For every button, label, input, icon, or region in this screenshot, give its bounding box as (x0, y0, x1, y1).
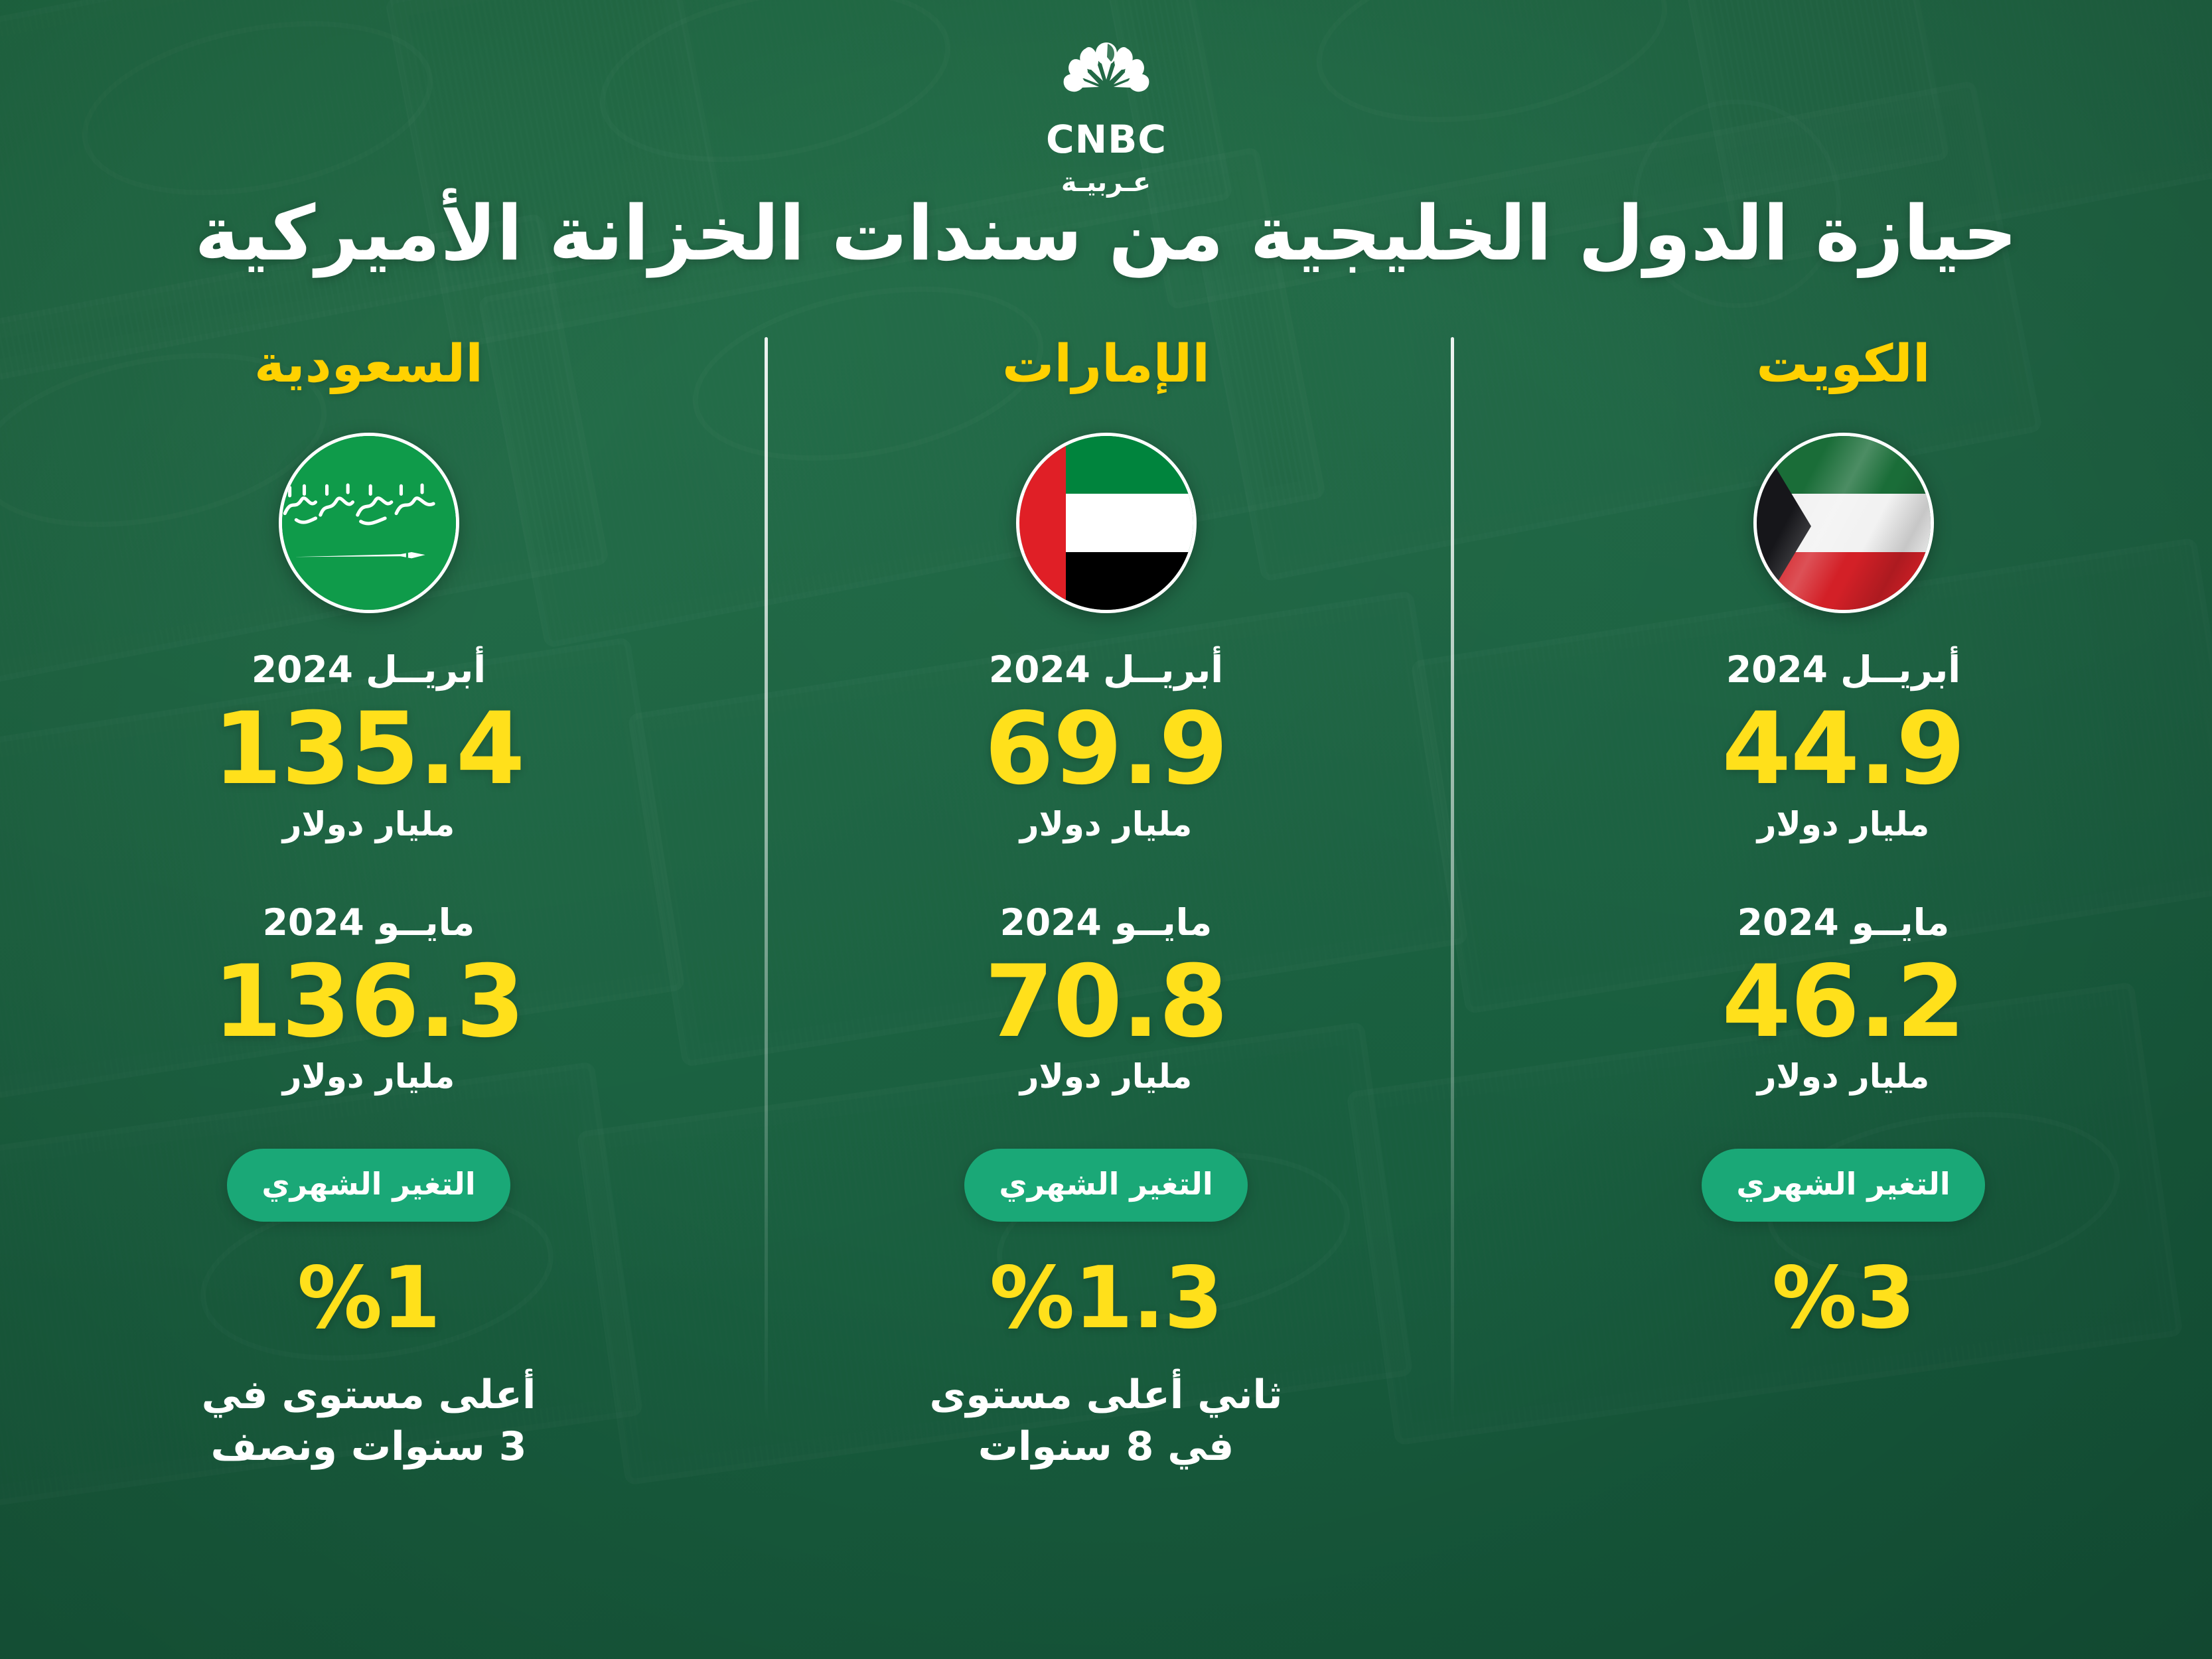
period-unit: مليار دولار (737, 808, 1475, 841)
kuwait-flag-icon (1753, 433, 1934, 613)
column-note: ثاني أعلى مستوىفي 8 سنوات (929, 1369, 1282, 1473)
period-value: 69.9 (737, 697, 1475, 802)
shahada-script-icon (280, 481, 441, 526)
country-column-uae: الإمارات أبريــل 2024 69.9 مليار دولار م… (737, 319, 1475, 1619)
period-block-april-kuwait: أبريــل 2024 44.9 مليار دولار (1475, 652, 2212, 841)
period-label: أبريــل 2024 (0, 652, 737, 688)
period-unit: مليار دولار (1475, 808, 2212, 841)
period-value: 70.8 (737, 950, 1475, 1055)
period-label: مايــو 2024 (1475, 904, 2212, 941)
period-value: 135.4 (0, 697, 737, 802)
page-title: حيازة الدول الخليجية من سندات الخزانة ال… (0, 190, 2212, 277)
period-block-may-saudi: مايــو 2024 136.3 مليار دولار (0, 904, 737, 1094)
monthly-change-badge: التغير الشهري (1702, 1149, 1984, 1222)
country-name-saudi: السعودية (254, 338, 483, 390)
column-note: أعلى مستوى في3 سنوات ونصف (202, 1369, 536, 1473)
period-block-april-uae: أبريــل 2024 69.9 مليار دولار (737, 652, 1475, 841)
country-column-kuwait: الكويت أبريــل 2024 44.9 مليار دولار ماي… (1475, 319, 2212, 1619)
cnbc-peacock-logo-icon (1051, 38, 1162, 113)
period-block-april-saudi: أبريــل 2024 135.4 مليار دولار (0, 652, 737, 841)
cnbc-wordmark-icon: CNBC (1030, 117, 1183, 161)
period-unit: مليار دولار (0, 808, 737, 841)
period-value: 46.2 (1475, 950, 2212, 1055)
monthly-change-value: %3 (1772, 1256, 1915, 1341)
period-unit: مليار دولار (1475, 1060, 2212, 1093)
infographic-root: CNBC عـربيـة حيازة الدول الخليجية من سند… (0, 0, 2212, 1659)
monthly-change-badge: التغير الشهري (964, 1149, 1247, 1222)
period-label: أبريــل 2024 (1475, 652, 2212, 688)
saudi-arabia-flag-icon (279, 433, 459, 613)
period-label: أبريــل 2024 (737, 652, 1475, 688)
cnbc-arabia-logo: CNBC عـربيـة (967, 38, 1246, 198)
period-value: 136.3 (0, 950, 737, 1055)
sword-icon (291, 551, 428, 560)
country-name-kuwait: الكويت (1756, 338, 1930, 390)
monthly-change-badge: التغير الشهري (227, 1149, 510, 1222)
period-block-may-uae: مايــو 2024 70.8 مليار دولار (737, 904, 1475, 1094)
period-unit: مليار دولار (0, 1060, 737, 1093)
country-columns: الكويت أبريــل 2024 44.9 مليار دولار ماي… (0, 319, 2212, 1619)
period-unit: مليار دولار (737, 1060, 1475, 1093)
period-label: مايــو 2024 (0, 904, 737, 941)
cnbc-wordmark-text: CNBC (1046, 117, 1167, 161)
period-label: مايــو 2024 (737, 904, 1475, 941)
monthly-change-value: %1 (297, 1256, 440, 1341)
country-name-uae: الإمارات (1002, 338, 1210, 390)
uae-flag-icon (1016, 433, 1197, 613)
period-block-may-kuwait: مايــو 2024 46.2 مليار دولار (1475, 904, 2212, 1094)
monthly-change-value: %1.3 (990, 1256, 1222, 1341)
period-value: 44.9 (1475, 697, 2212, 802)
country-column-saudi: السعودية (0, 319, 737, 1619)
